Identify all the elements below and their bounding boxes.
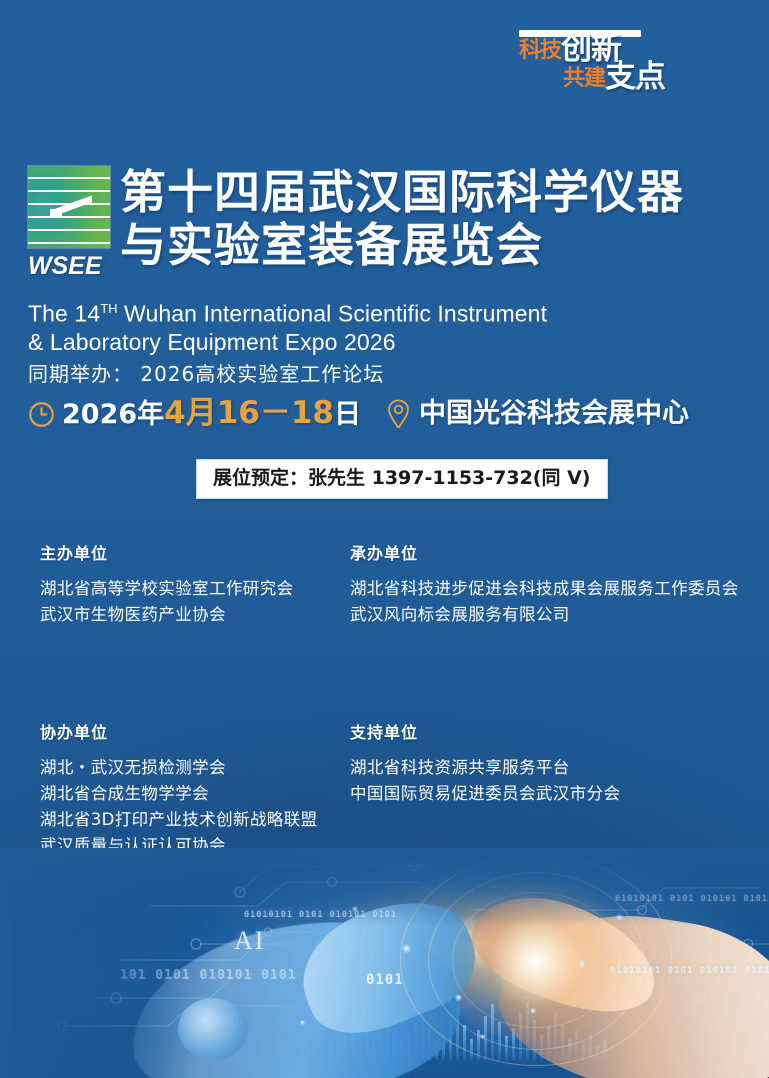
organiser-item: 湖北省科技进步促进会科技成果会展服务工作委员会 [350, 576, 740, 602]
organiser-column-host: 主办单位 湖北省高等学校实验室工作研究会 武汉市生物医药产业协会 [40, 544, 350, 628]
organiser-item: 武汉风向标会展服务有限公司 [350, 602, 740, 628]
title-en-ordinal: TH [100, 301, 117, 316]
venue-text: 中国光谷科技会展中心 [419, 399, 689, 429]
binary-text: 01010101 0101 010101 0101 [610, 966, 769, 976]
clock-icon [28, 401, 55, 428]
organiser-heading: 支持单位 [350, 723, 740, 743]
organiser-item: 武汉市生物医药产业协会 [40, 602, 350, 628]
organiser-item: 中国国际贸易促进委员会武汉市分会 [350, 781, 740, 807]
date-prefix: 2026年 [62, 399, 164, 430]
wsee-wordmark: WSEE [28, 252, 114, 281]
organiser-item: 湖北省合成生物学学会 [40, 781, 350, 807]
organiser-item: 湖北省科技资源共享服务平台 [350, 755, 740, 781]
light-spark [300, 1020, 305, 1025]
wsee-z-mark-icon [48, 193, 92, 219]
organiser-row: 主办单位 湖北省高等学校实验室工作研究会 武汉市生物医药产业协会 承办单位 湖北… [40, 544, 740, 628]
slogan-block: 科技创新 共建支点 [511, 26, 743, 94]
light-spark [530, 1008, 536, 1014]
slogan-line2-orange: 共建 [563, 66, 605, 91]
wsee-logo-mark-icon [28, 166, 110, 248]
binary-text: 0101 [366, 972, 404, 988]
organiser-column-undertaker: 承办单位 湖北省科技进步促进会科技成果会展服务工作委员会 武汉风向标会展服务有限… [350, 544, 740, 628]
poster-canvas: 科技创新 共建支点 WSEE 第十四届武汉国际科学仪器 与实验室装备展览会 Th… [0, 0, 769, 1078]
title-en-post: Wuhan International Scientific Instrumen… [118, 301, 548, 327]
slogan-line2-white: 支点 [605, 59, 665, 95]
title-cn-line-2: 与实验室装备展览会 [120, 219, 760, 272]
slogan-line-2: 共建支点 [563, 62, 665, 92]
title-cn-line-1: 第十四届武汉国际科学仪器 [120, 166, 760, 219]
organiser-grid: 主办单位 湖北省高等学校实验室工作研究会 武汉市生物医药产业协会 承办单位 湖北… [40, 544, 740, 885]
slogan-line1-orange: 科技 [519, 38, 561, 63]
booth-booking-contact[interactable]: 展位预定：张先生 1397-1153-732(同 V) [196, 459, 608, 499]
organiser-item: 湖北省高等学校实验室工作研究会 [40, 576, 350, 602]
date-text: 2026年4月16－18日 [62, 398, 361, 430]
light-spark [578, 960, 586, 968]
ai-hands-artwork: 01010101 0101 010101 0101 101 0101 01010… [0, 848, 769, 1078]
light-spark [402, 944, 411, 953]
artwork-top-fade [0, 848, 769, 926]
date-highlight: 4月16－18 [164, 395, 334, 431]
title-en-pre: The 14 [28, 301, 100, 327]
concurrent-forum-line: 同期举办： 2026高校实验室工作论坛 [28, 358, 384, 387]
organiser-heading: 主办单位 [40, 544, 350, 564]
title-en-line-1: The 14TH Wuhan International Scientific … [28, 295, 668, 328]
title-en-line-2: & Laboratory Equipment Expo 2026 [28, 328, 668, 356]
wsee-logo: WSEE [28, 166, 114, 281]
light-spark [480, 1034, 485, 1039]
organiser-heading: 协办单位 [40, 723, 350, 743]
ai-label: AI [234, 926, 265, 956]
date-venue-row: 2026年4月16－18日 中国光谷科技会展中心 [28, 396, 689, 432]
subtitle-english: The 14TH Wuhan International Scientific … [28, 295, 668, 356]
date-suffix: 日 [334, 399, 361, 430]
location-pin-icon [385, 399, 412, 429]
page-title: 第十四届武汉国际科学仪器 与实验室装备展览会 [120, 166, 760, 272]
organiser-item: 湖北省3D打印产业技术创新战略联盟 [40, 807, 350, 833]
light-spark [455, 994, 462, 1001]
organiser-item: 湖北・武汉无损检测学会 [40, 755, 350, 781]
organiser-heading: 承办单位 [350, 544, 740, 564]
